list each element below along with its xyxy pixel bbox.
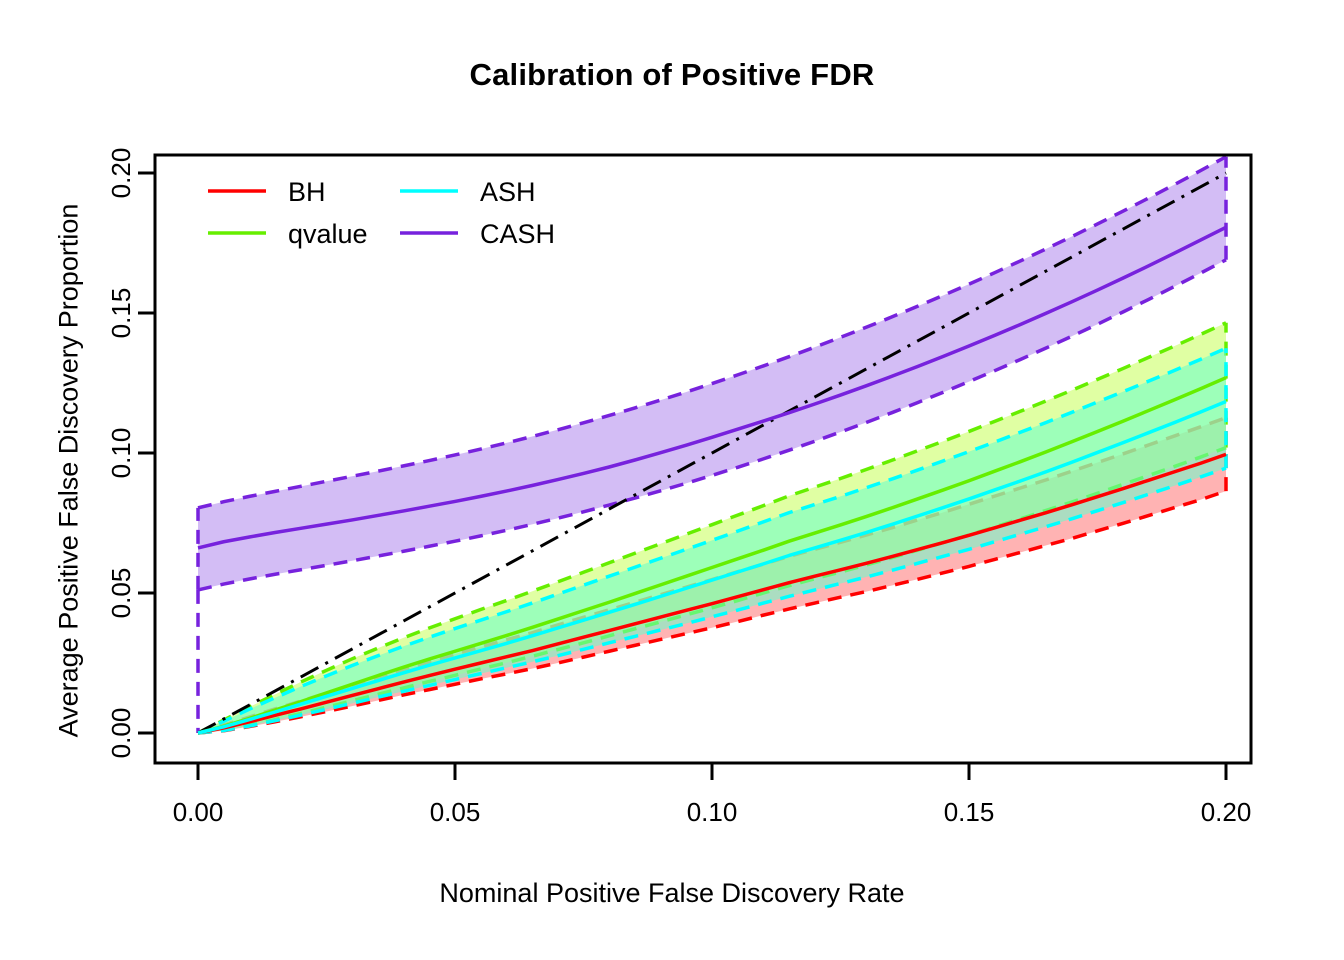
x-axis-label: Nominal Positive False Discovery Rate bbox=[0, 878, 1344, 909]
legend-label-bh: BH bbox=[288, 177, 326, 207]
x-tick-label-2: 0.10 bbox=[687, 797, 738, 827]
y-tick-label-4: 0.20 bbox=[106, 148, 136, 199]
x-tick-label-0: 0.00 bbox=[173, 797, 224, 827]
chart-canvas: 0.000.050.100.150.200.000.050.100.150.20… bbox=[0, 0, 1344, 960]
legend-label-qvalue: qvalue bbox=[288, 219, 368, 249]
y-tick-label-0: 0.00 bbox=[106, 708, 136, 759]
x-tick-label-1: 0.05 bbox=[430, 797, 481, 827]
x-tick-label-4: 0.20 bbox=[1201, 797, 1252, 827]
chart-page: Calibration of Positive FDR 0.000.050.10… bbox=[0, 0, 1344, 960]
y-tick-label-2: 0.10 bbox=[106, 428, 136, 479]
y-tick-label-3: 0.15 bbox=[106, 288, 136, 339]
legend-label-cash: CASH bbox=[480, 219, 555, 249]
y-tick-label-1: 0.05 bbox=[106, 568, 136, 619]
legend-label-ash: ASH bbox=[480, 177, 536, 207]
x-tick-label-3: 0.15 bbox=[944, 797, 995, 827]
y-axis-label: Average Positive False Discovery Proport… bbox=[54, 121, 85, 821]
